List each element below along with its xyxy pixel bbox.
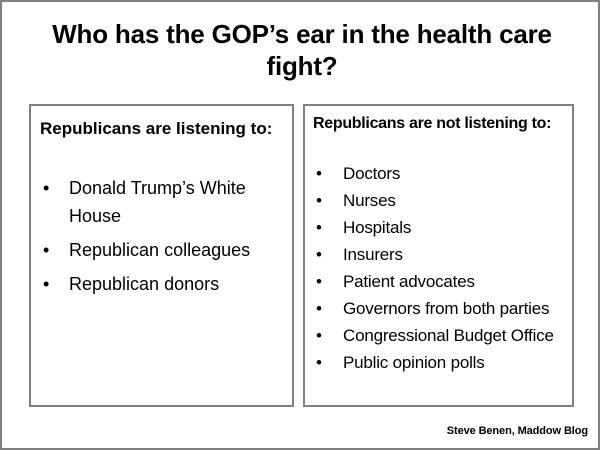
bullet-icon: • [316, 187, 322, 214]
list-republicans-not-listening: • Doctors • Nurses • Hospitals • Insurer… [313, 160, 573, 376]
list-item: • Donald Trump’s White House [40, 174, 292, 230]
list-item: • Patient advocates [313, 268, 573, 295]
list-item: • Public opinion polls [313, 349, 573, 376]
list-item-label: Republican colleagues [69, 240, 250, 260]
slide-canvas: Who has the GOP’s ear in the health care… [0, 0, 600, 450]
bullet-icon: • [43, 174, 49, 202]
panel-republicans-listening: Republicans are listening to: • Donald T… [29, 104, 294, 407]
list-item-label: Nurses [343, 191, 396, 210]
panel-republicans-not-listening: Republicans are not listening to: • Doct… [303, 104, 574, 407]
list-item-label: Hospitals [343, 218, 411, 237]
list-item-label: Governors from both parties [343, 299, 549, 318]
list-item: • Insurers [313, 241, 573, 268]
list-item: • Nurses [313, 187, 573, 214]
attribution-credit: Steve Benen, Maddow Blog [447, 425, 588, 437]
list-republicans-listening: • Donald Trump’s White House • Republica… [40, 174, 292, 304]
panel-heading-not-listening: Republicans are not listening to: [313, 112, 571, 136]
list-item-label: Republican donors [69, 274, 219, 294]
list-item-label: Insurers [343, 245, 403, 264]
bullet-icon: • [316, 349, 322, 376]
bullet-icon: • [43, 236, 49, 264]
list-item: • Governors from both parties [313, 295, 573, 322]
list-item: • Doctors [313, 160, 573, 187]
bullet-icon: • [43, 270, 49, 298]
list-item: • Republican donors [40, 270, 292, 298]
bullet-icon: • [316, 295, 322, 322]
bullet-icon: • [316, 268, 322, 295]
bullet-icon: • [316, 214, 322, 241]
list-item-label: Public opinion polls [343, 353, 485, 372]
page-title: Who has the GOP’s ear in the health care… [32, 18, 572, 82]
bullet-icon: • [316, 322, 322, 349]
list-item-label: Doctors [343, 164, 400, 183]
bullet-icon: • [316, 241, 322, 268]
list-item: • Congressional Budget Office [313, 322, 573, 349]
bullet-icon: • [316, 160, 322, 187]
list-item-label: Patient advocates [343, 272, 475, 291]
panel-heading-listening: Republicans are listening to: [40, 116, 290, 142]
list-item-label: Donald Trump’s White House [69, 178, 246, 226]
list-item: • Hospitals [313, 214, 573, 241]
list-item-label: Congressional Budget Office [343, 326, 554, 345]
list-item: • Republican colleagues [40, 236, 292, 264]
